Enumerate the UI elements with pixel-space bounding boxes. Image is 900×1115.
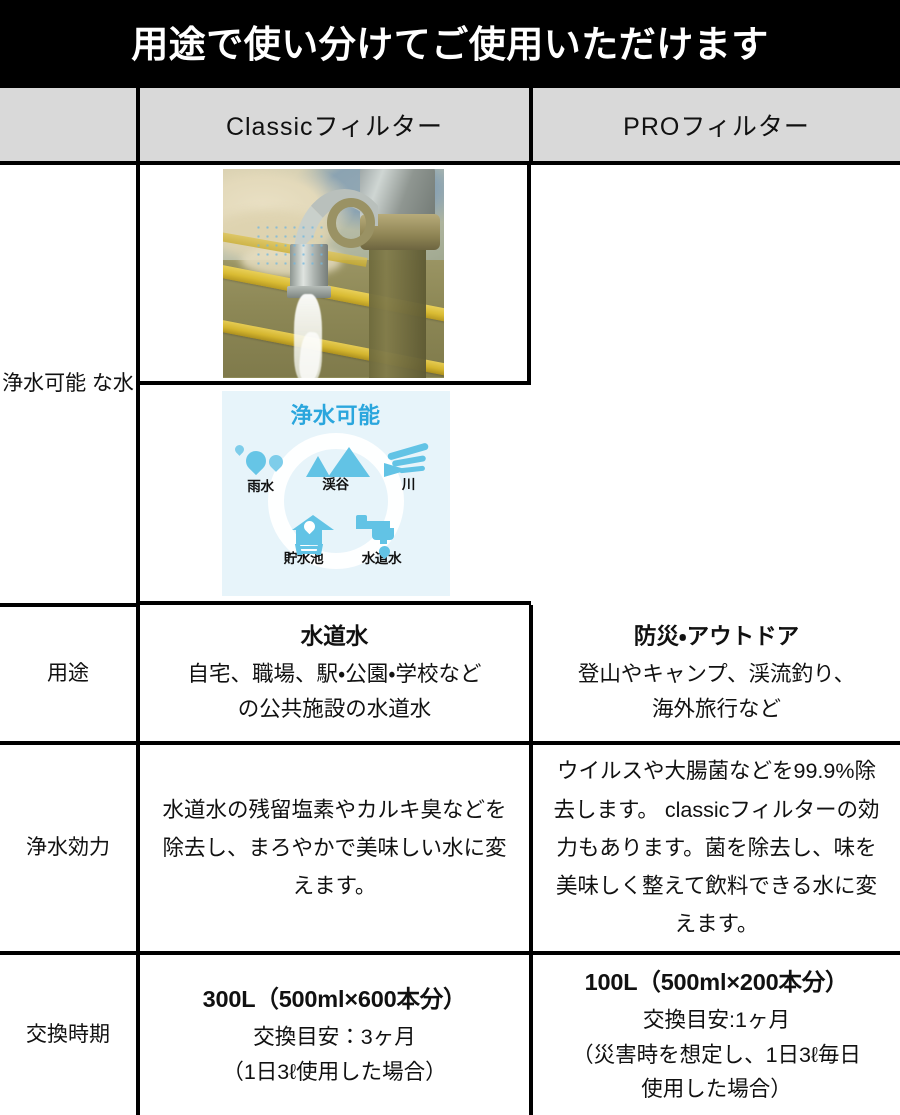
infographic-item-tap-water: 水道水	[344, 515, 420, 567]
pro-usage-line-2: 海外旅行など	[533, 692, 900, 727]
pro-water-infographic-cell: 浄水可能 雨水 渓谷	[140, 385, 531, 605]
classic-replacement-line-1: 交換目安：3ヶ月	[140, 1020, 529, 1055]
row-label-purifiable-water: 浄水可能 な水	[0, 163, 138, 605]
infographic-item-valley: 渓谷	[300, 441, 372, 493]
mountain-icon	[300, 441, 372, 477]
row-label-line-1: 浄水可能	[2, 372, 86, 395]
header-classic: Classicフィルター	[138, 88, 531, 163]
river-icon	[380, 441, 438, 477]
classic-replacement-heading: 300L（500ml×600本分）	[140, 980, 529, 1018]
infographic-item-river: 川	[380, 441, 438, 493]
classic-effect-text: 水道水の残留塩素やカルキ臭などを除去し、まろやかで美味しい水に変えます。	[140, 791, 529, 906]
infographic-label-rainwater: 雨水	[230, 480, 292, 495]
row-label-purification-effect: 浄水効力	[0, 743, 138, 953]
header-blank-cell	[0, 88, 138, 163]
infographic-item-reservoir: 貯水池	[266, 515, 342, 567]
pro-replacement-line-1: 交換目安:1ヶ月	[533, 1003, 900, 1038]
page-title-banner: 用途で使い分けてご使用いただけます	[0, 0, 900, 88]
infographic-item-rainwater: 雨水	[230, 443, 292, 495]
pro-replacement-line-3: 使用した場合）	[533, 1072, 900, 1107]
classic-usage-heading: 水道水	[140, 619, 529, 655]
table-header-row: Classicフィルター PROフィルター	[0, 88, 900, 163]
infographic-title: 浄水可能	[222, 398, 450, 430]
infographic-label-valley: 渓谷	[300, 478, 372, 493]
classic-water-photo-cell	[140, 165, 531, 385]
row-label-line-2: な水	[92, 372, 134, 395]
classic-usage-line-1: 自宅、職場、駅・公園・学校など	[140, 657, 529, 692]
row-label-replacement-period: 交換時期	[0, 953, 138, 1115]
classic-effect-cell: 水道水の残留塩素やカルキ臭などを除去し、まろやかで美味しい水に変えます。	[138, 743, 531, 953]
classic-usage-cell: 水道水 自宅、職場、駅・公園・学校など の公共施設の水道水	[138, 605, 531, 743]
pro-effect-text: ウイルスや大腸菌などを99.9%除去します。 classicフィルターの効力もあ…	[533, 752, 900, 943]
table-row: 用途 水道水 自宅、職場、駅・公園・学校など の公共施設の水道水 防災・アウトド…	[0, 605, 900, 743]
pro-replacement-cell: 100L（500ml×200本分） 交換目安:1ヶ月 （災害時を想定し、1日3ℓ…	[531, 953, 900, 1115]
table-row: 浄水可能 な水	[0, 163, 900, 605]
infographic-label-reservoir: 貯水池	[266, 552, 342, 567]
faucet-photo-image	[223, 169, 444, 378]
pro-replacement-heading: 100L（500ml×200本分）	[533, 963, 900, 1001]
water-tower-icon	[266, 515, 342, 551]
faucet-icon	[344, 515, 420, 551]
infographic-label-river: 川	[380, 478, 438, 493]
filter-comparison-table: Classicフィルター PROフィルター 浄水可能 な水	[0, 88, 900, 1115]
pro-usage-cell: 防災・アウトドア 登山やキャンプ、渓流釣り、 海外旅行など	[531, 605, 900, 743]
purification-infographic: 浄水可能 雨水 渓谷	[222, 391, 450, 596]
pro-effect-cell: ウイルスや大腸菌などを99.9%除去します。 classicフィルターの効力もあ…	[531, 743, 900, 953]
rain-drops-icon	[230, 443, 292, 479]
table-row: 交換時期 300L（500ml×600本分） 交換目安：3ヶ月 （1日3ℓ使用し…	[0, 953, 900, 1115]
pro-usage-line-1: 登山やキャンプ、渓流釣り、	[533, 657, 900, 692]
classic-replacement-cell: 300L（500ml×600本分） 交換目安：3ヶ月 （1日3ℓ使用した場合）	[138, 953, 531, 1115]
photo-water-spray	[254, 223, 329, 269]
classic-replacement-line-2: （1日3ℓ使用した場合）	[140, 1055, 529, 1090]
table-row: 浄水効力 水道水の残留塩素やカルキ臭などを除去し、まろやかで美味しい水に変えます…	[0, 743, 900, 953]
page-title: 用途で使い分けてご使用いただけます	[131, 26, 769, 63]
row-label-usage: 用途	[0, 605, 138, 743]
pro-replacement-line-2: （災害時を想定し、1日3ℓ毎日	[533, 1038, 900, 1073]
header-pro: PROフィルター	[531, 88, 900, 163]
pro-usage-heading: 防災・アウトドア	[533, 619, 900, 655]
classic-usage-line-2: の公共施設の水道水	[140, 692, 529, 727]
photo-faucet-handle	[327, 198, 376, 248]
